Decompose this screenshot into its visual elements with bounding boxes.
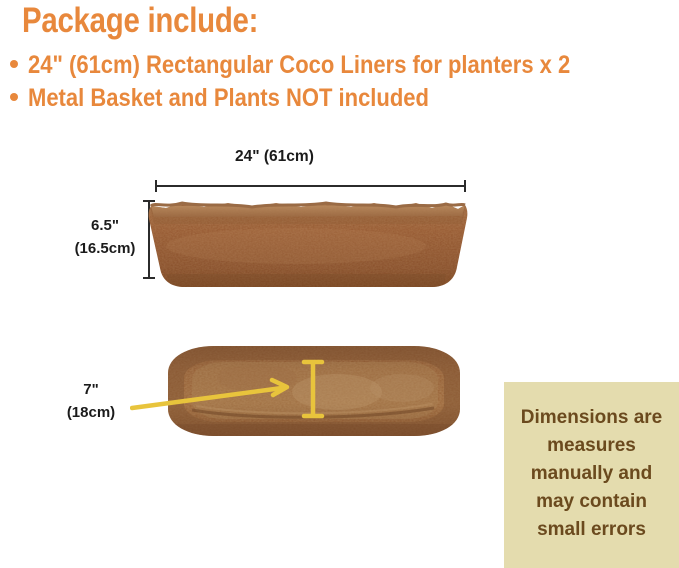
disclaimer-note-text: Dimensions are measures manually and may… — [518, 404, 665, 544]
coco-liner-side-view-image — [146, 196, 470, 292]
rule-cap-right-icon — [464, 180, 466, 192]
depth-dimension-label-cm: (18cm) — [45, 404, 137, 421]
page-title: Package include: — [22, 2, 258, 40]
height-dimension-label-inches: 6.5" — [73, 217, 137, 234]
bullet-dot-icon — [10, 93, 18, 101]
depth-indicator-annotation — [130, 352, 330, 424]
list-item: 24" (61cm) Rectangular Coco Liners for p… — [10, 52, 644, 78]
list-item-label: Metal Basket and Plants NOT included — [28, 85, 429, 111]
bullet-dot-icon — [10, 60, 18, 68]
list-item-label: 24" (61cm) Rectangular Coco Liners for p… — [28, 52, 570, 78]
width-dimension-label: 24" (61cm) — [235, 148, 314, 166]
disclaimer-note-box: Dimensions are measures manually and may… — [504, 382, 679, 568]
height-dimension-rule — [143, 200, 144, 279]
depth-dimension-label-inches: 7" — [60, 381, 122, 398]
width-dimension-rule — [155, 180, 466, 181]
list-item: Metal Basket and Plants NOT included — [10, 85, 484, 111]
rule-bar-icon — [155, 185, 466, 187]
depth-arrow-shaft-icon — [132, 388, 282, 408]
height-dimension-label-cm: (16.5cm) — [60, 240, 150, 257]
product-infographic: Package include: 24" (61cm) Rectangular … — [0, 0, 679, 568]
